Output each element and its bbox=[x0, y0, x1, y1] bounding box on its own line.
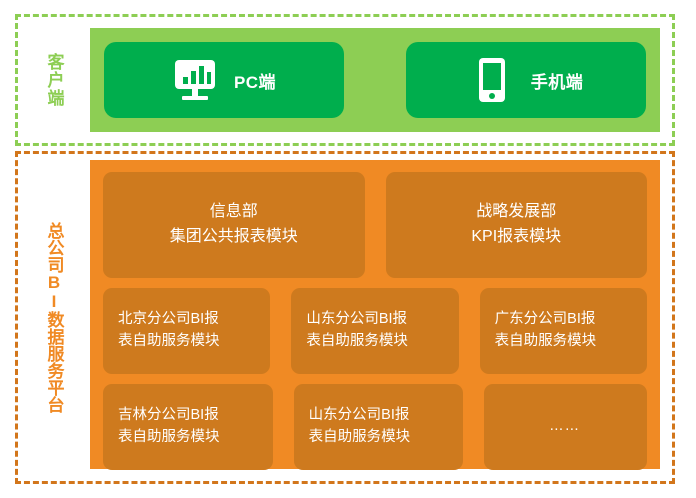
client-panel: PC端 手机端 bbox=[90, 28, 660, 132]
client-tier-label-text: 客户端 bbox=[46, 53, 63, 107]
module-box-line1: 北京分公司BI报 bbox=[118, 309, 220, 331]
module-box-jilin-branch[interactable]: 吉林分公司BI报 表自助服务模块 bbox=[103, 384, 273, 470]
module-box-guangdong-branch[interactable]: 广东分公司BI报 表自助服务模块 bbox=[480, 288, 647, 374]
client-card-pc-label: PC端 bbox=[234, 68, 276, 93]
platform-tier-label-text: 总公司BI数据服务平台 bbox=[46, 222, 63, 413]
module-box-line1: 山东分公司BI报 bbox=[309, 405, 411, 427]
module-box-ellipsis-text: …… bbox=[549, 416, 580, 438]
module-box-info-dept[interactable]: 信息部 集团公共报表模块 bbox=[103, 172, 365, 278]
module-box-line2: KPI报表模块 bbox=[471, 225, 561, 250]
module-box-line2: 表自助服务模块 bbox=[306, 331, 408, 353]
module-box-beijing-branch[interactable]: 北京分公司BI报 表自助服务模块 bbox=[103, 288, 270, 374]
module-box-line1: 信息部 bbox=[170, 200, 298, 225]
module-box-line2: 表自助服务模块 bbox=[495, 331, 597, 353]
headquarters-modules-row: 信息部 集团公共报表模块 战略发展部 KPI报表模块 bbox=[103, 172, 647, 278]
module-box-line2: 表自助服务模块 bbox=[118, 331, 220, 353]
branch-modules-row-1: 北京分公司BI报 表自助服务模块 山东分公司BI报 表自助服务模块 广东分公司B… bbox=[103, 288, 647, 374]
client-tier-side-label: 客户端 bbox=[18, 17, 90, 143]
module-box-strategy-dept[interactable]: 战略发展部 KPI报表模块 bbox=[386, 172, 648, 278]
module-box-shandong-branch-2[interactable]: 山东分公司BI报 表自助服务模块 bbox=[294, 384, 464, 470]
branch-modules-row-2: 吉林分公司BI报 表自助服务模块 山东分公司BI报 表自助服务模块 …… bbox=[103, 384, 647, 470]
desktop-monitor-chart-icon bbox=[172, 57, 218, 103]
diagram-canvas: 客户端 PC端 bbox=[0, 0, 696, 498]
module-box-line1: 广东分公司BI报 bbox=[495, 309, 597, 331]
client-card-mobile[interactable]: 手机端 bbox=[406, 42, 646, 118]
client-card-pc[interactable]: PC端 bbox=[104, 42, 344, 118]
module-box-line1: 山东分公司BI报 bbox=[306, 309, 408, 331]
client-card-mobile-label: 手机端 bbox=[531, 68, 584, 93]
platform-panel: 信息部 集团公共报表模块 战略发展部 KPI报表模块 北京分公司BI报 表自 bbox=[90, 160, 660, 469]
module-box-line1: 战略发展部 bbox=[471, 200, 561, 225]
smartphone-icon bbox=[469, 57, 515, 103]
platform-tier-side-label: 总公司BI数据服务平台 bbox=[18, 154, 90, 481]
module-box-line1: 吉林分公司BI报 bbox=[118, 405, 220, 427]
module-box-shandong-branch[interactable]: 山东分公司BI报 表自助服务模块 bbox=[291, 288, 458, 374]
module-box-line2: 表自助服务模块 bbox=[309, 427, 411, 449]
client-tier: 客户端 PC端 bbox=[15, 14, 675, 146]
platform-tier: 总公司BI数据服务平台 信息部 集团公共报表模块 战略发展部 KPI报表模块 bbox=[15, 151, 675, 484]
module-box-line2: 表自助服务模块 bbox=[118, 427, 220, 449]
module-box-line2: 集团公共报表模块 bbox=[170, 225, 298, 250]
module-box-more-ellipsis[interactable]: …… bbox=[484, 384, 647, 470]
